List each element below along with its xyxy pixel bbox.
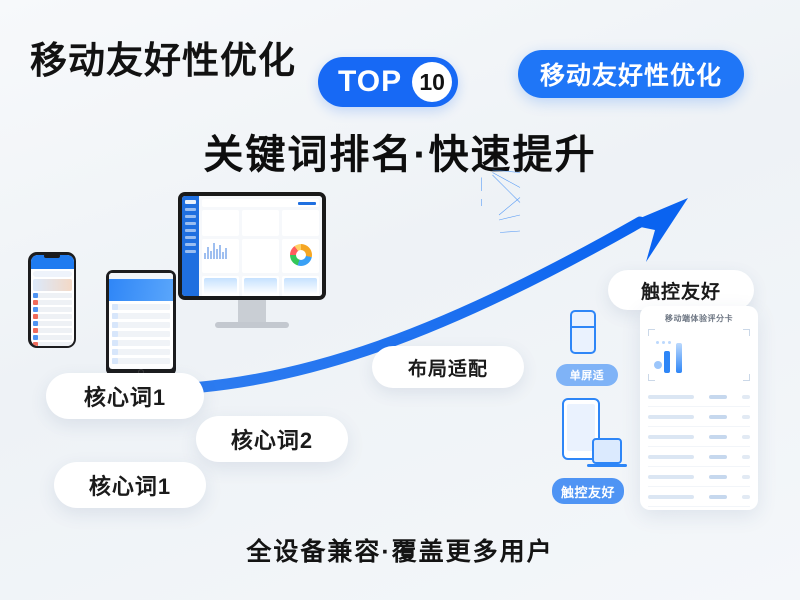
layout-fit-pill[interactable]: 布局适配 [372, 346, 524, 388]
monitor-stand [238, 300, 266, 322]
single-screen-pill: 单屏适 [556, 364, 618, 386]
score-card-title: 移动端体验评分卡 [648, 313, 750, 324]
phone-list-item [33, 342, 72, 346]
phone-notch [44, 254, 60, 258]
phone-list-item [33, 307, 72, 312]
footer-caption: 全设备兼容·覆盖更多用户 [0, 532, 800, 568]
touch-friendly-mini-pill: 触控友好 [552, 478, 624, 504]
tablet-list-item [112, 313, 170, 319]
tablet-list-item [112, 349, 170, 355]
tablet-list-item [112, 331, 170, 337]
phone-list-item [33, 314, 72, 319]
mobile-experience-score-card: 移动端体验评分卡 [640, 306, 758, 510]
score-row [648, 467, 750, 487]
keyword-pill-3[interactable]: 核心词1 [54, 462, 206, 508]
connector-lines [0, 0, 800, 300]
phone-list-item [33, 335, 72, 340]
tablet-list-item [112, 358, 170, 364]
keyword-pill-2[interactable]: 核心词2 [196, 416, 348, 462]
monitor-base [215, 322, 289, 328]
poster-stage: 移动友好性优化 TOP 10 移动友好性优化 关键词排名·快速提升 [0, 0, 800, 600]
score-row [648, 447, 750, 467]
tablet-list-item [112, 322, 170, 328]
connected-devices-diagram: 单屏适 触控友好 [548, 310, 648, 505]
phone-list-item [33, 300, 72, 305]
mini-phone-top-icon [570, 310, 596, 354]
bulb-icon [654, 361, 662, 369]
keyword-pill-1[interactable]: 核心词1 [46, 373, 204, 419]
score-row [648, 487, 750, 507]
score-row [648, 407, 750, 427]
score-row [648, 427, 750, 447]
score-card-illustration [648, 329, 750, 381]
score-row [648, 387, 750, 407]
bar-illustration-icon [664, 343, 682, 373]
mini-laptop-icon [592, 438, 628, 470]
tablet-list-item [112, 304, 170, 310]
phone-list-item [33, 321, 72, 326]
phone-list-item [33, 328, 72, 333]
tablet-list-item [112, 340, 170, 346]
